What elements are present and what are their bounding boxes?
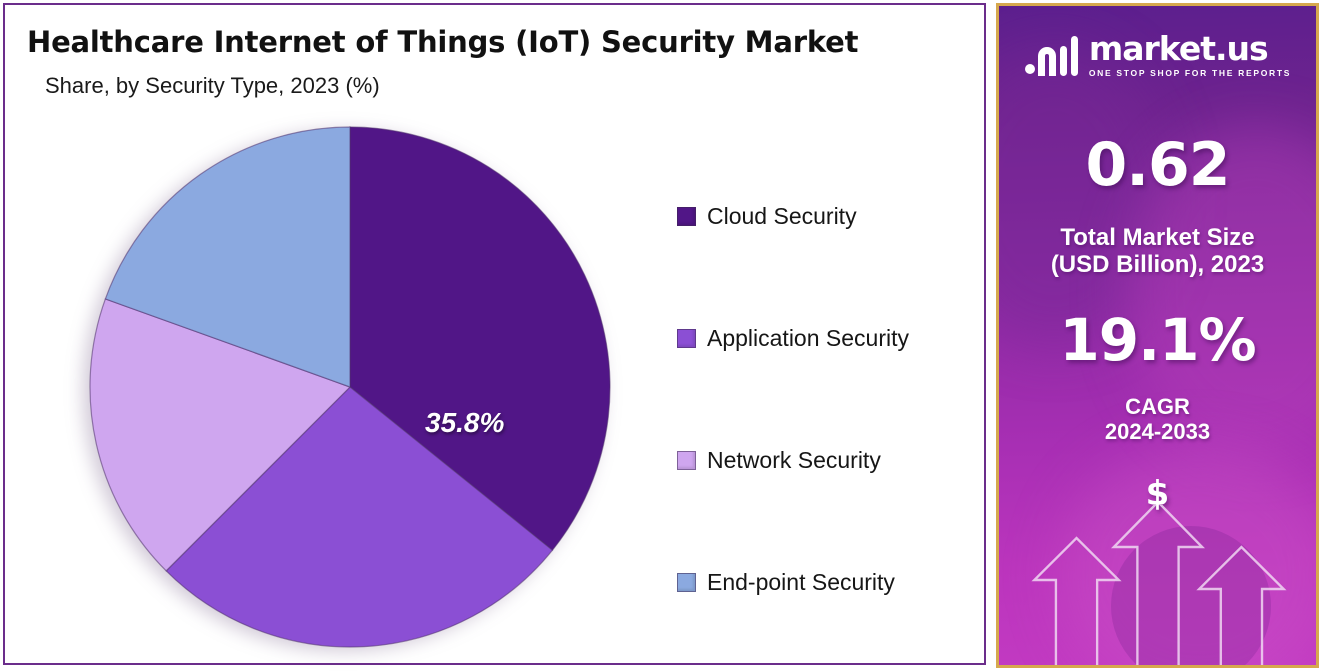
market-size-caption: Total Market Size (USD Billion), 2023 [999, 224, 1316, 279]
legend-label: Cloud Security [707, 203, 857, 230]
pie-svg [73, 117, 633, 665]
legend-item-network-security[interactable]: Network Security [677, 399, 977, 521]
market-size-caption-line2: (USD Billion), 2023 [999, 251, 1316, 278]
legend-label: Application Security [707, 325, 909, 352]
pie-slice-group [90, 127, 610, 647]
pie-chart: 35.8% [73, 117, 633, 665]
logo-text: market.us ONE STOP SHOP FOR THE REPORTS [1089, 32, 1291, 78]
legend-label: End-point Security [707, 569, 895, 596]
logo-tagline: ONE STOP SHOP FOR THE REPORTS [1089, 68, 1291, 78]
growth-arrows-icon [999, 505, 1316, 665]
logo-wordmark: market.us [1089, 32, 1268, 65]
cagr-caption-line1: CAGR [999, 394, 1316, 419]
cagr-caption: CAGR 2024-2033 [999, 394, 1316, 444]
legend-swatch-icon [677, 451, 696, 470]
market-size-value: 0.62 [999, 130, 1316, 200]
legend-swatch-icon [677, 573, 696, 592]
legend-item-end-point-security[interactable]: End-point Security [677, 521, 977, 643]
legend-swatch-icon [677, 329, 696, 348]
legend-item-cloud-security[interactable]: Cloud Security [677, 155, 977, 277]
stats-panel: market.us ONE STOP SHOP FOR THE REPORTS … [996, 3, 1319, 668]
page-title: Healthcare Internet of Things (IoT) Secu… [27, 25, 927, 59]
cagr-value: 19.1% [999, 306, 1316, 374]
legend-swatch-icon [677, 207, 696, 226]
legend-label: Network Security [707, 447, 881, 474]
legend-item-application-security[interactable]: Application Security [677, 277, 977, 399]
chart-panel: Healthcare Internet of Things (IoT) Secu… [3, 3, 986, 665]
brand-logo[interactable]: market.us ONE STOP SHOP FOR THE REPORTS [999, 32, 1316, 78]
market-us-logo-icon [1024, 32, 1080, 78]
chart-legend: Cloud Security Application Security Netw… [677, 155, 977, 643]
pie-slice-value-label: 35.8% [425, 407, 504, 439]
cagr-caption-line2: 2024-2033 [999, 419, 1316, 444]
chart-subtitle: Share, by Security Type, 2023 (%) [45, 73, 745, 99]
market-size-caption-line1: Total Market Size [999, 224, 1316, 251]
infographic-canvas: Healthcare Internet of Things (IoT) Secu… [0, 0, 1322, 671]
